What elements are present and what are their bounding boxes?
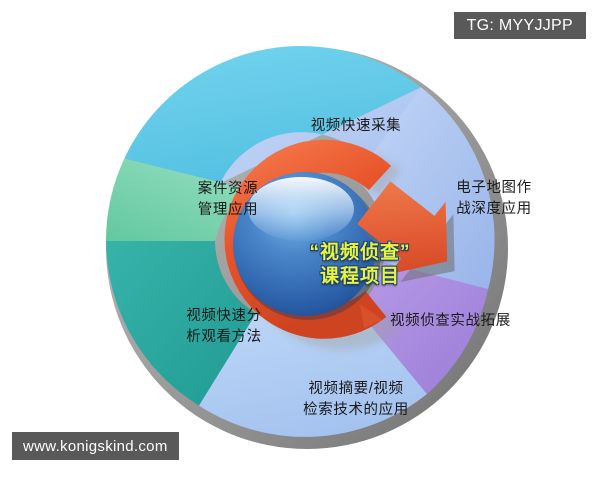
site-watermark-badge: www.konigskind.com (12, 432, 179, 460)
infographic-canvas: 视频快速采集 电子地图作 战深度应用 视频侦查实战拓展 视频摘要/视频 检索技术… (0, 0, 600, 480)
wheel-graphic (64, 36, 538, 450)
telegram-watermark-badge: TG: MYYJJPP (454, 12, 586, 39)
sphere-highlight (248, 177, 354, 241)
cycle-wheel: 视频快速采集 电子地图作 战深度应用 视频侦查实战拓展 视频摘要/视频 检索技术… (64, 36, 538, 450)
